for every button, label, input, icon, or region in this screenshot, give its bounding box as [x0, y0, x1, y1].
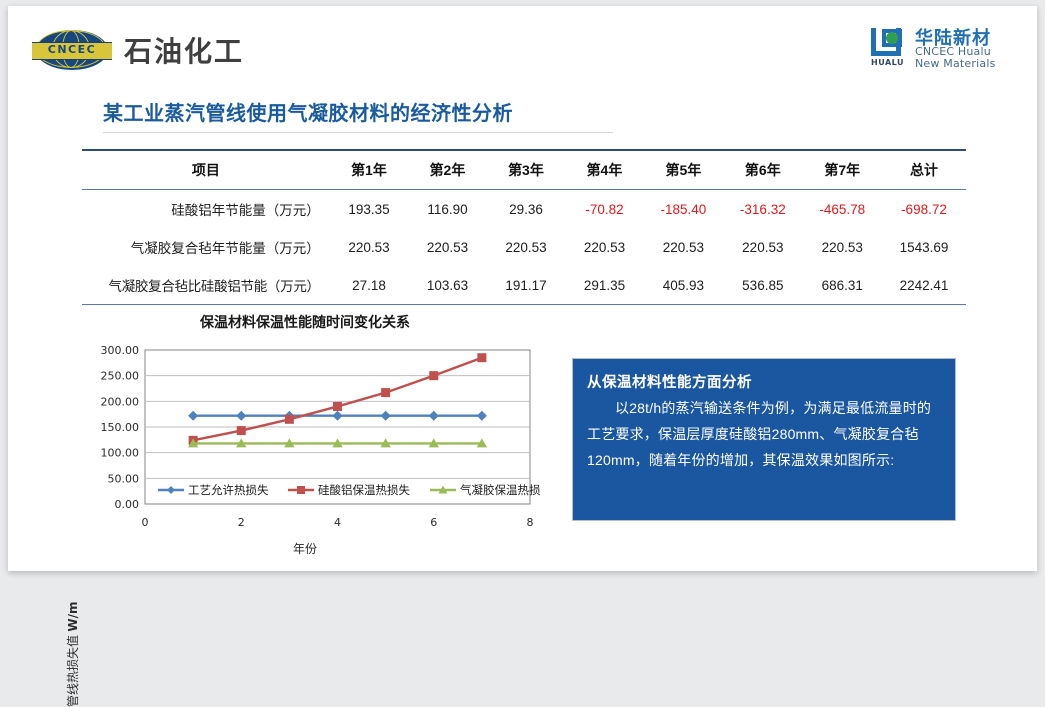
legend-label: 硅酸铝保温热损失 [318, 483, 410, 497]
hualu-logo: HUALU 华陆新材 CNCEC Hualu New Materials [871, 22, 1021, 72]
col-header-year2: 第2年 [408, 150, 487, 190]
data-point-marker [333, 402, 342, 411]
cell-1-1: 220.53 [408, 228, 487, 266]
company-name-cn: 石油化工 [124, 30, 244, 70]
slide-canvas: CNCEC 石油化工 HUALU 华陆新材 CNCEC Hualu New Ma… [8, 6, 1037, 571]
cell-2-6: 686.31 [803, 266, 882, 305]
row-label-0: 硅酸铝年节能量（万元） [82, 190, 330, 229]
y-tick-label: 300.00 [101, 344, 140, 357]
hualu-abbr-text: HUALU [871, 58, 904, 67]
callout-title: 从保温材料性能方面分析 [587, 371, 941, 392]
cell-1-4: 220.53 [644, 228, 723, 266]
cell-2-5: 536.85 [723, 266, 802, 305]
economics-table: 项目 第1年 第2年 第3年 第4年 第5年 第6年 第7年 总计 硅酸铝年节能… [82, 149, 966, 305]
hualu-mark-icon [871, 28, 907, 58]
cell-2-4: 405.93 [644, 266, 723, 305]
cell-1-6: 220.53 [803, 228, 882, 266]
cell-1-5: 220.53 [723, 228, 802, 266]
cell-0-3: -70.82 [565, 190, 644, 229]
x-tick-label: 8 [527, 516, 534, 529]
hualu-green-dot [886, 32, 898, 44]
cell-0-4: -185.40 [644, 190, 723, 229]
x-tick-label: 2 [238, 516, 245, 529]
y-tick-label: 250.00 [101, 370, 140, 383]
chart-title: 保温材料保温性能随时间变化关系 [70, 312, 540, 332]
legend-label: 气凝胶保温热损失 [460, 483, 540, 497]
cell-0-7: -698.72 [882, 190, 966, 229]
cncec-logo-text: CNCEC [32, 42, 112, 58]
chart-plot-area: 0.0050.00100.00150.00200.00250.00300.000… [70, 342, 540, 542]
legend-label: 工艺允许热损失 [188, 483, 269, 497]
row-label-2: 气凝胶复合毡比硅酸铝节能（万元） [82, 266, 330, 305]
chart-legend: 工艺允许热损失硅酸铝保温热损失气凝胶保温热损失 [158, 483, 540, 497]
table-row: 硅酸铝年节能量（万元） 193.35 116.90 29.36 -70.82 -… [82, 190, 966, 229]
y-axis-label-text: 管线热损失值 [66, 635, 80, 707]
data-point-marker [429, 371, 438, 380]
callout-body: 以28t/h的蒸汽输送条件为例，为满足最低流量时的工艺要求，保温层厚度硅酸铝28… [587, 395, 941, 473]
cell-0-5: -316.32 [723, 190, 802, 229]
col-header-year5: 第5年 [644, 150, 723, 190]
data-point-marker [237, 426, 246, 435]
cell-2-7: 2242.41 [882, 266, 966, 305]
col-header-year3: 第3年 [487, 150, 566, 190]
cncec-logo-icon: CNCEC [30, 28, 114, 72]
col-header-year4: 第4年 [565, 150, 644, 190]
cell-0-1: 116.90 [408, 190, 487, 229]
col-header-year7: 第7年 [803, 150, 882, 190]
y-tick-label: 200.00 [101, 395, 140, 408]
page-title: 某工业蒸汽管线使用气凝胶材料的经济性分析 [103, 97, 513, 126]
y-tick-label: 150.00 [101, 421, 140, 434]
insulation-performance-chart: 保温材料保温性能随时间变化关系 管线热损失值 W/m 年份 0.0050.001… [70, 312, 540, 567]
cell-1-0: 220.53 [330, 228, 409, 266]
cell-1-3: 220.53 [565, 228, 644, 266]
chart-y-axis-label: 管线热损失值 W/m [64, 602, 81, 707]
table-row: 气凝胶复合毡年节能量（万元） 220.53 220.53 220.53 220.… [82, 228, 966, 266]
cell-1-7: 1543.69 [882, 228, 966, 266]
x-tick-label: 6 [430, 516, 437, 529]
y-tick-label: 100.00 [101, 447, 140, 460]
y-axis-unit-text: W/m [66, 602, 80, 632]
title-divider [103, 132, 613, 133]
cell-0-2: 29.36 [487, 190, 566, 229]
x-tick-label: 0 [142, 516, 149, 529]
table-row: 气凝胶复合毡比硅酸铝节能（万元） 27.18 103.63 191.17 291… [82, 266, 966, 305]
y-tick-label: 50.00 [108, 472, 140, 485]
analysis-callout: 从保温材料性能方面分析 以28t/h的蒸汽输送条件为例，为满足最低流量时的工艺要… [572, 358, 956, 521]
cell-2-3: 291.35 [565, 266, 644, 305]
col-header-year6: 第6年 [723, 150, 802, 190]
cell-0-6: -465.78 [803, 190, 882, 229]
cell-2-2: 191.17 [487, 266, 566, 305]
cell-2-1: 103.63 [408, 266, 487, 305]
cell-0-0: 193.35 [330, 190, 409, 229]
col-header-total: 总计 [882, 150, 966, 190]
data-point-marker [381, 388, 390, 397]
row-label-1: 气凝胶复合毡年节能量（万元） [82, 228, 330, 266]
cell-2-0: 27.18 [330, 266, 409, 305]
cell-1-2: 220.53 [487, 228, 566, 266]
y-tick-label: 0.00 [115, 498, 140, 511]
hualu-name-en-2: New Materials [915, 57, 996, 70]
data-point-marker [285, 415, 294, 424]
table-header-row: 项目 第1年 第2年 第3年 第4年 第5年 第6年 第7年 总计 [82, 150, 966, 190]
data-point-marker [477, 353, 486, 362]
x-tick-label: 4 [334, 516, 341, 529]
col-header-year1: 第1年 [330, 150, 409, 190]
col-header-item: 项目 [82, 150, 330, 190]
chart-x-axis-label: 年份 [70, 540, 540, 557]
